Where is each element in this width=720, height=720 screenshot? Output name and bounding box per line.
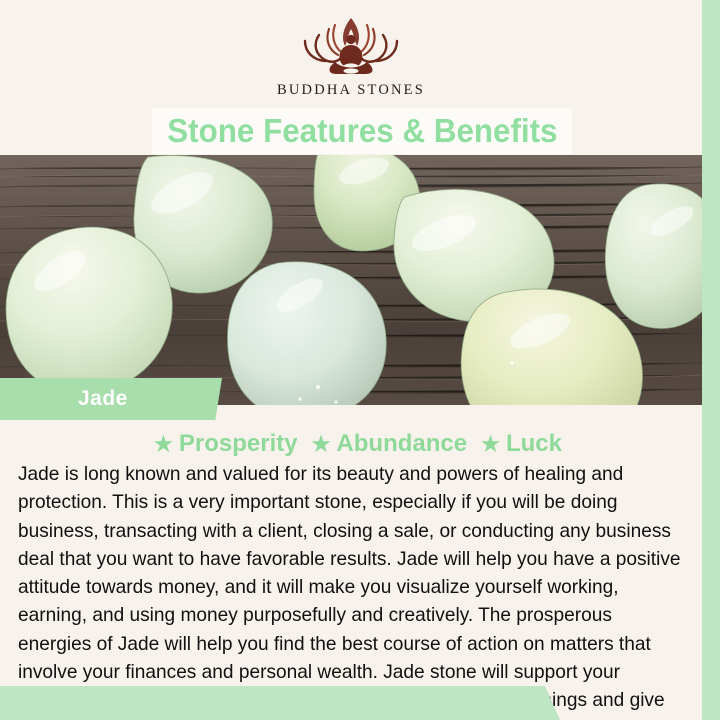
benefit-abundance: ★ Abundance [312, 430, 468, 458]
brand-name: BUDDHA STONES [277, 82, 425, 99]
description-panel: Jade is long known and valued for its be… [14, 460, 696, 696]
jade-stones-illustration [0, 155, 702, 405]
benefit-label: Abundance [336, 430, 467, 458]
page-title: Stone Features & Benefits [167, 112, 557, 150]
stone-name-label: Jade [78, 387, 128, 411]
title-band: Stone Features & Benefits [152, 108, 572, 154]
star-icon: ★ [154, 434, 173, 455]
benefit-prosperity: ★ Prosperity [154, 430, 298, 458]
star-icon: ★ [481, 434, 500, 455]
benefits-row: ★ Prosperity ★ Abundance ★ Luck [14, 428, 702, 460]
star-icon: ★ [312, 434, 331, 455]
benefit-luck: ★ Luck [481, 430, 562, 458]
benefit-label: Luck [506, 430, 562, 458]
benefit-label: Prosperity [179, 430, 298, 458]
infographic-page: BUDDHA STONES Stone Features & Benefits [0, 0, 720, 720]
description-text: Jade is long known and valued for its be… [18, 460, 684, 720]
green-right-band-top [702, 0, 720, 720]
brand-logo: BUDDHA STONES [277, 12, 425, 99]
lotus-meditation-icon [291, 12, 411, 80]
stone-photo [0, 155, 702, 405]
stone-name-bar: Jade [0, 378, 222, 420]
green-bottom-band [0, 686, 560, 720]
